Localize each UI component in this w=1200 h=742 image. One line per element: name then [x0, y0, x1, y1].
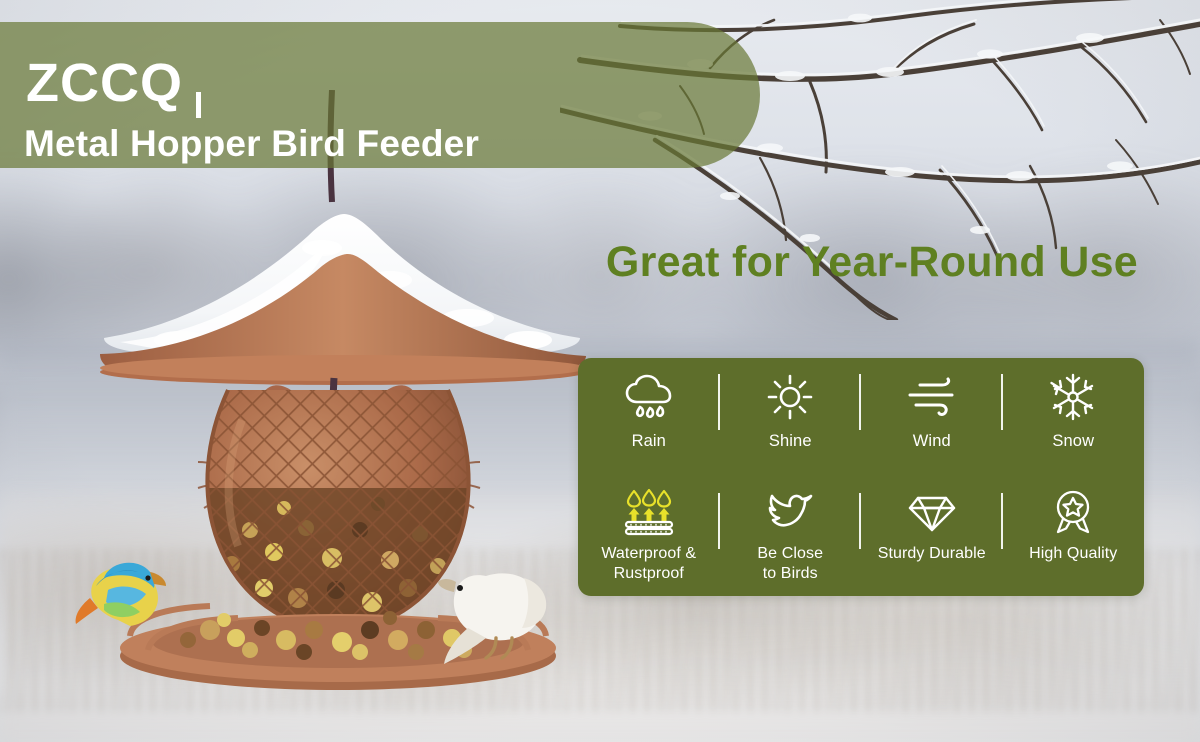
- product-marketing-image: ZCCQ Metal Hopper Bird Feeder Great for …: [0, 0, 1200, 742]
- sun-icon: [766, 372, 814, 422]
- headline: Great for Year-Round Use: [578, 236, 1138, 288]
- bird-feeder-product: [60, 90, 620, 730]
- rain-cloud-icon: [623, 372, 675, 422]
- feature-sturdy-durable: Sturdy Durable: [861, 477, 1003, 596]
- feature-waterproof: Waterproof & Rustproof: [578, 477, 720, 596]
- feature-shine: Shine: [720, 358, 862, 477]
- product-title: Metal Hopper Bird Feeder: [24, 125, 479, 162]
- feature-label: Snow: [1052, 431, 1094, 451]
- brand-name: ZCCQ: [26, 56, 183, 110]
- quality-badge-icon: [1048, 487, 1098, 537]
- feature-label: Sturdy Durable: [878, 544, 986, 564]
- feature-label: High Quality: [1029, 544, 1117, 564]
- feature-panel: Rain Shine: [578, 358, 1144, 596]
- feature-high-quality: High Quality: [1003, 477, 1145, 596]
- feature-label: Waterproof & Rustproof: [601, 544, 696, 583]
- waterproof-icon: [621, 487, 677, 537]
- wind-icon: [906, 372, 958, 422]
- feature-rain: Rain: [578, 358, 720, 477]
- brand-banner: ZCCQ Metal Hopper Bird Feeder: [0, 22, 760, 168]
- feature-label: Be Close to Birds: [757, 544, 823, 583]
- diamond-icon: [907, 487, 957, 537]
- feature-label: Rain: [632, 431, 666, 451]
- feature-label: Shine: [769, 431, 812, 451]
- feature-be-close-to-birds: Be Close to Birds: [720, 477, 862, 596]
- mesh-overlay: [190, 380, 490, 640]
- q-descender: [196, 92, 201, 118]
- feature-snow: Snow: [1003, 358, 1145, 477]
- snowflake-icon: [1049, 372, 1097, 422]
- bird-icon: [765, 487, 815, 537]
- feature-label: Wind: [913, 431, 951, 451]
- feature-wind: Wind: [861, 358, 1003, 477]
